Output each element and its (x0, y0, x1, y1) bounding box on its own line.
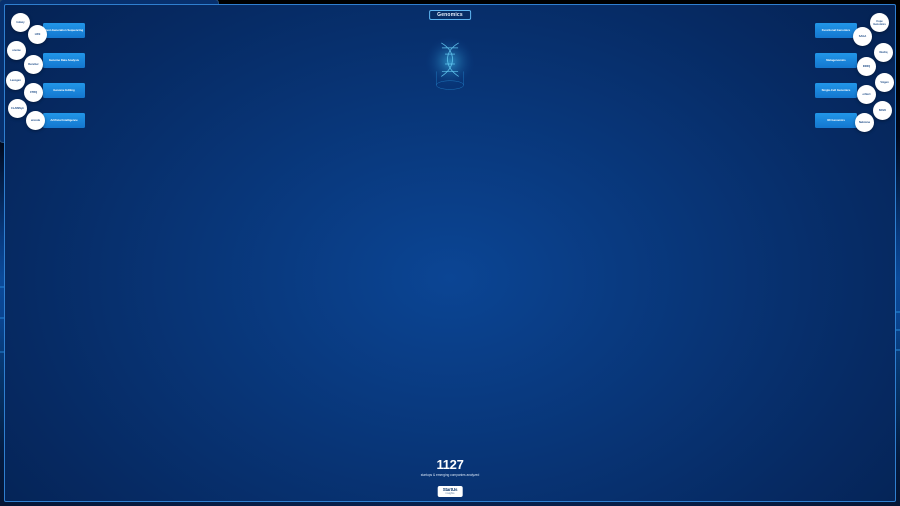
trend-box[interactable]: Artificial Intelligence (43, 113, 85, 128)
company-logo-badge[interactable]: unome (7, 41, 26, 60)
trend-box[interactable]: Genome Data Analysis (43, 53, 85, 68)
innovation-map-stat-number: 1127 (421, 458, 479, 471)
innovation-map-stat: 1127 startups & emerging companies analy… (421, 458, 479, 477)
brand-subtitle: insights (446, 493, 455, 496)
company-logo-badge[interactable]: Cope Genomics (870, 13, 889, 32)
innovation-map-panel[interactable]: Genomics (0, 0, 218, 142)
infographic-canvas: StartUs insights 8 Genomics Trends in 20… (0, 0, 900, 506)
company-logo-badge[interactable]: Vizgen (875, 73, 894, 92)
innovation-map-title: Genomics (429, 10, 471, 20)
trend-box[interactable]: Next-Generation Sequencing (43, 23, 85, 38)
company-logo-badge[interactable]: LIFE (28, 25, 47, 44)
company-logo-badge[interactable]: Lexogen (6, 71, 25, 90)
company-logo-badge[interactable]: IONIQ (857, 57, 876, 76)
company-logo-badge[interactable]: Indazy (11, 13, 30, 32)
trend-box[interactable]: Metagenomics (815, 53, 857, 68)
innovation-map-stat-text: startups & emerging companies analyzed (421, 473, 479, 477)
company-logo-badge[interactable]: SAGA (853, 27, 872, 46)
dna-helix-graphic (419, 33, 481, 95)
company-logo-badge[interactable]: CLAIMSyn (8, 99, 27, 118)
company-logo-badge[interactable]: Nucliq (874, 43, 893, 62)
innovation-map-brand-logo: StartUs insights (438, 486, 463, 497)
company-logo-badge[interactable]: CTRQ (24, 83, 43, 102)
company-logo-badge[interactable]: DeruGer (24, 55, 43, 74)
innovation-map-canvas: Genomics (4, 4, 896, 502)
company-logo-badge[interactable]: enVert (857, 85, 876, 104)
trend-box[interactable]: 3D Genomics (815, 113, 857, 128)
company-logo-badge[interactable]: NOVA (873, 101, 892, 120)
trend-box[interactable]: Functional Genomics (815, 23, 857, 38)
company-logo-badge[interactable]: encode (26, 111, 45, 130)
trend-box[interactable]: Single-Cell Genomics (815, 83, 857, 98)
company-logo-badge[interactable]: Nubiome (855, 113, 874, 132)
trend-box[interactable]: Genome Editing (43, 83, 85, 98)
